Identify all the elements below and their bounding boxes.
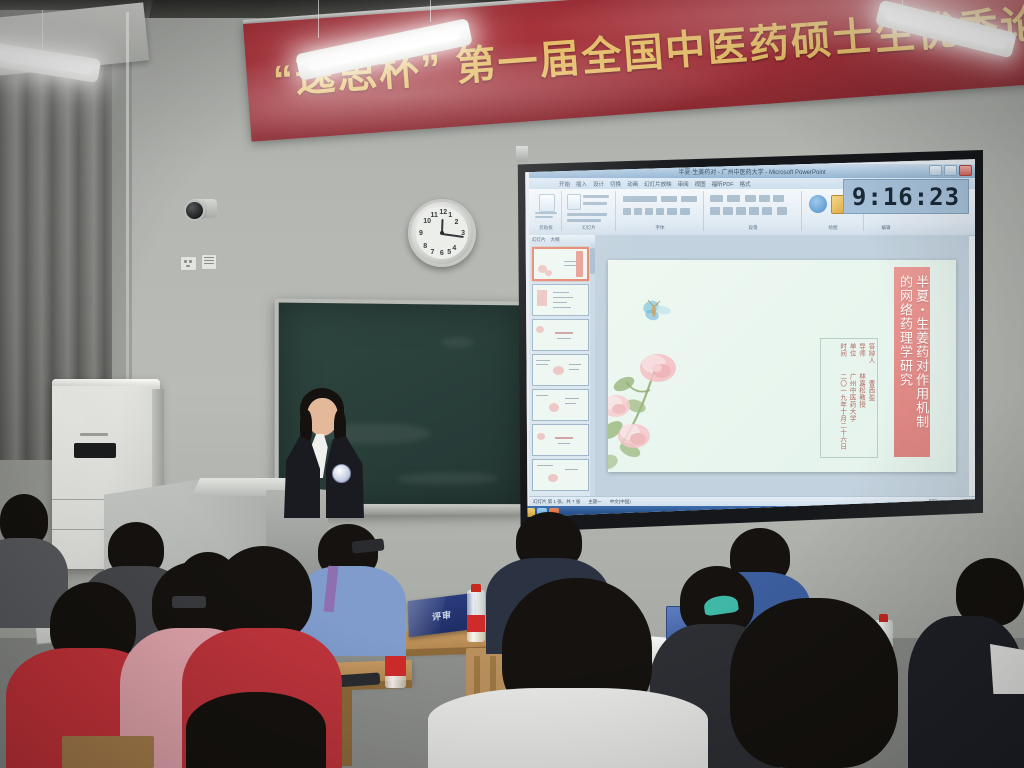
- audience-mid-2-glasses-icon: [172, 596, 206, 608]
- slide-thumbnail-5[interactable]: [532, 389, 589, 421]
- butterfly-decoration: [640, 298, 674, 324]
- meta-advisor: 导师 林嘉松教授: [857, 343, 864, 453]
- slide-thumbnail-3[interactable]: [532, 319, 589, 351]
- ac-display-panel: [74, 443, 116, 458]
- powerpoint-window[interactable]: 半夏·生姜药对 - 广州中医药大学 - Microsoft PowerPoint…: [523, 157, 975, 519]
- minimize-button[interactable]: [929, 165, 942, 176]
- thumbpane-tab-outline[interactable]: 大纲: [551, 237, 560, 243]
- tab-format[interactable]: 格式: [740, 180, 751, 188]
- slide-thumbnail-7[interactable]: [532, 459, 589, 491]
- tab-design[interactable]: 设计: [593, 180, 604, 188]
- meta-presenter-value: 曹西盈: [867, 380, 874, 401]
- ribbon-group-paragraph[interactable]: 段落: [705, 191, 802, 231]
- ribbon-label-clipboard: 剪贴板: [531, 225, 561, 231]
- tab-foxit-pdf[interactable]: 福昕PDF: [712, 180, 734, 188]
- ribbon-label-font: 字体: [617, 225, 703, 231]
- tab-view[interactable]: 视图: [695, 180, 706, 188]
- power-socket-left: [180, 256, 197, 271]
- slide-title: 半夏・生姜药对作用机制的网络药理学研究: [896, 275, 928, 441]
- lecture-hall-photo: “逸思杯” 第一届全国中医药硕士生优秀论文评选活动: [0, 0, 1024, 768]
- status-slide-indicator: 幻灯片 第 1 张，共 7 张: [533, 499, 580, 505]
- camera-lens-icon: [184, 200, 205, 221]
- meta-presenter: 答辩人 曹西盈: [867, 343, 874, 453]
- slide-meta-box: 答辩人 曹西盈 导师 林嘉松教授 单位 广州中医药大学 时间: [820, 338, 878, 458]
- meta-date-value: 二〇一九年十月二十六日: [838, 373, 845, 450]
- audience-head-front-2: [730, 598, 898, 768]
- tab-transitions[interactable]: 切换: [610, 180, 621, 188]
- audience-torso-front-1: [428, 688, 708, 768]
- rose-branch-decoration: [608, 344, 732, 472]
- meta-advisor-label: 导师: [857, 343, 864, 357]
- meta-institution: 单位 广州中医药大学: [848, 343, 855, 453]
- ribbon-group-font[interactable]: 字体: [617, 191, 704, 231]
- close-button[interactable]: [959, 165, 972, 176]
- thumbpane-tab-slides[interactable]: 幻灯片: [532, 237, 546, 243]
- slide-thumbnail-6[interactable]: [532, 424, 589, 456]
- presenter: [278, 388, 370, 518]
- meta-advisor-value: 林嘉松教授: [857, 373, 864, 408]
- thumbpane-tabs[interactable]: 幻灯片 大纲: [529, 235, 595, 244]
- meta-date-label: 时间: [838, 343, 845, 357]
- tab-slideshow[interactable]: 幻灯片放映: [644, 180, 672, 188]
- projection-screen: 半夏·生姜药对 - 广州中医药大学 - Microsoft PowerPoint…: [523, 157, 975, 519]
- chair-foreground: [62, 736, 154, 768]
- window-controls[interactable]: [929, 165, 972, 176]
- tab-review[interactable]: 审阅: [678, 180, 689, 188]
- slide-editing-area[interactable]: 半夏・生姜药对作用机制的网络药理学研究 答辩人 曹西盈 导师 林嘉松教授 单位: [595, 235, 969, 497]
- paste-button[interactable]: [539, 194, 555, 212]
- presenter-badge: [332, 464, 351, 483]
- slide-thumbnail-pane[interactable]: 幻灯片 大纲: [529, 235, 596, 497]
- slide-thumbnail-1[interactable]: [532, 247, 589, 281]
- screen-roller-housing: [516, 146, 528, 162]
- meta-institution-value: 广州中医药大学: [848, 373, 855, 422]
- tab-home[interactable]: 开始: [559, 180, 570, 188]
- tab-insert[interactable]: 插入: [576, 180, 587, 188]
- status-theme: 主题一: [588, 499, 602, 505]
- new-slide-button[interactable]: [567, 194, 581, 210]
- ribbon-label-slides: 幻灯片: [563, 225, 615, 231]
- ribbon-group-clipboard[interactable]: 剪贴板: [531, 191, 562, 231]
- maximize-button[interactable]: [944, 165, 957, 176]
- audience-mid-5-collar: [990, 644, 1024, 694]
- slide-thumbnail-2[interactable]: [532, 284, 589, 316]
- audience-head-front-3: [186, 692, 326, 768]
- status-language: 中文(中国): [610, 499, 631, 505]
- tab-animations[interactable]: 动画: [627, 180, 638, 188]
- slide-thumbnail-4[interactable]: [532, 354, 589, 386]
- countdown-clock-value: 9:16:23: [852, 183, 960, 211]
- window-title: 半夏·生姜药对 - 广州中医药大学 - Microsoft PowerPoint: [678, 167, 825, 176]
- ribbon-label-editing: 编辑: [865, 225, 907, 231]
- ribbon-label-drawing: 绘图: [803, 225, 863, 231]
- countdown-clock-overlay: 9:16:23: [843, 179, 969, 214]
- power-socket-right: [201, 254, 217, 270]
- analog-wall-clock: 12 3 6 9 1 2 4 5 7 8 10 11: [408, 199, 476, 267]
- meta-institution-label: 单位: [848, 343, 855, 357]
- slide-title-band: 半夏・生姜药对作用机制的网络药理学研究: [894, 267, 930, 457]
- meta-date: 时间 二〇一九年十月二十六日: [838, 343, 845, 453]
- ribbon-group-slides[interactable]: 幻灯片: [563, 191, 616, 231]
- meta-presenter-label: 答辩人: [867, 343, 874, 364]
- clock-center-pin: [440, 231, 444, 235]
- shapes-icon[interactable]: [809, 195, 827, 213]
- ribbon-label-paragraph: 段落: [705, 225, 801, 231]
- current-slide[interactable]: 半夏・生姜药对作用机制的网络药理学研究 答辩人 曹西盈 导师 林嘉松教授 单位: [608, 260, 956, 472]
- water-bottle-mid: [467, 590, 485, 642]
